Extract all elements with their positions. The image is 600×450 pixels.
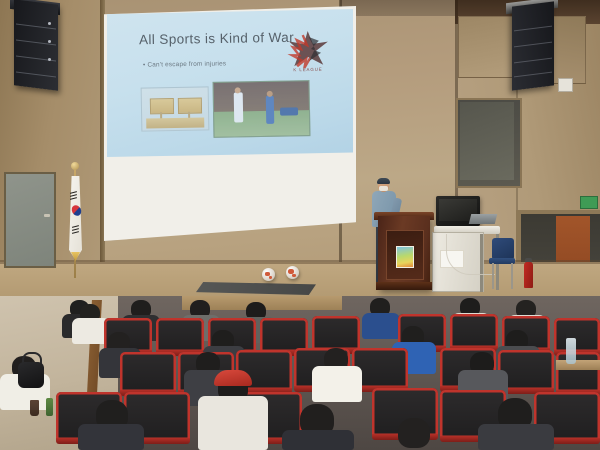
photo-player-head [235, 87, 241, 93]
attendee-body-white-shirt [312, 366, 362, 402]
auditorium-seat[interactable] [260, 318, 308, 352]
speaker-led [48, 58, 51, 61]
speaker-led [48, 22, 51, 25]
auditorium-seat[interactable] [312, 316, 360, 350]
auditorium-seat[interactable] [450, 314, 498, 348]
bullet-label: Can't escape from injuries [147, 60, 226, 68]
attendee-body [362, 313, 400, 339]
bullet-marker: • [143, 62, 146, 69]
line-array-speaker-left-icon [14, 0, 58, 91]
attendee-body-white-shirt [198, 396, 268, 450]
flag-finial [71, 162, 79, 170]
water-bottle [566, 338, 576, 364]
soccer-ball [286, 266, 299, 279]
auditorium-seat[interactable] [156, 318, 204, 352]
speaker-led [48, 40, 51, 43]
power-cable [446, 234, 495, 275]
photo-player [266, 96, 274, 124]
blue-chair[interactable] [492, 238, 514, 260]
presentation-slide: All Sports is Kind of War • Can't escape… [107, 9, 353, 157]
soccer-ball [262, 268, 275, 281]
slide-bullet-text: • Can't escape from injuries [143, 60, 226, 68]
photo-player [234, 92, 244, 122]
side-ledge [556, 360, 600, 370]
slide-image-soccer-match [213, 80, 311, 138]
attendee-body [78, 424, 144, 450]
auditorium-photo: All Sports is Kind of War • Can't escape… [0, 0, 600, 450]
chair-leg [492, 263, 494, 289]
attendee-body [282, 430, 354, 450]
slide-logo-subtext: K LEAGUE [283, 67, 333, 73]
attendee-head [398, 418, 430, 448]
presenter-cap [377, 178, 390, 184]
wall-junction-box [558, 78, 573, 92]
auditorium-seat[interactable] [554, 318, 600, 352]
photo-player [280, 107, 298, 115]
wall-recess-glass [460, 102, 514, 180]
exit-door-left[interactable] [4, 172, 56, 268]
drink-bottle [46, 398, 53, 416]
diagram-base [146, 117, 204, 128]
slide-title: All Sports is Kind of War [139, 30, 294, 47]
door-handle-icon[interactable] [44, 214, 50, 217]
face-mask-icon [379, 186, 388, 191]
slide-image-scoreboard-diagram [141, 86, 210, 131]
auditorium-seat[interactable] [556, 352, 600, 392]
fire-extinguisher [524, 262, 533, 288]
attendee-body [478, 424, 554, 450]
podium-poster [396, 246, 414, 268]
backpack [18, 362, 44, 388]
upper-wall-band [340, 0, 456, 16]
photo-player-head [267, 91, 273, 97]
chair-leg [511, 263, 513, 289]
auditorium-seat[interactable] [120, 352, 176, 392]
laptop[interactable] [469, 214, 497, 224]
exit-sign-icon [580, 196, 598, 209]
red-cap-icon [214, 370, 252, 386]
podium-base [376, 282, 432, 290]
drink-cup [30, 400, 39, 416]
